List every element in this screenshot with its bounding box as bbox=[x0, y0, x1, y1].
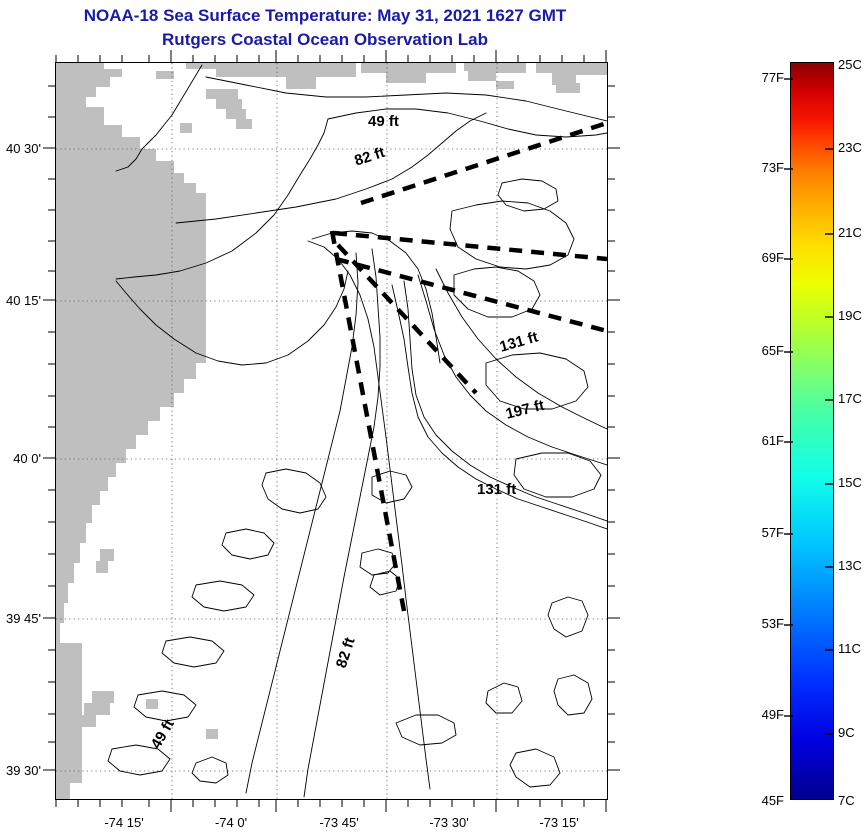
colorbar-f-label-5: 57F bbox=[740, 525, 784, 540]
colorbar-f-label-6: 53F bbox=[740, 616, 784, 631]
page-title: NOAA-18 Sea Surface Temperature: May 31,… bbox=[0, 4, 650, 52]
colorbar-c-label-8: 9C bbox=[838, 725, 855, 740]
colorbar-f-label-1: 73F bbox=[740, 160, 784, 175]
y-tick-label-0: 40 30' bbox=[0, 141, 41, 156]
y-tick-label-1: 40 15' bbox=[0, 293, 41, 308]
colorbar-f-label-2: 69F bbox=[740, 250, 784, 265]
x-tick-label-2: -73 45' bbox=[294, 815, 384, 830]
depth-label-131ft-lower: 131 ft bbox=[477, 481, 516, 498]
x-tick-label-3: -73 30' bbox=[404, 815, 494, 830]
colorbar-f-label-0: 77F bbox=[740, 70, 784, 85]
title-line-1: NOAA-18 Sea Surface Temperature: May 31,… bbox=[0, 4, 650, 28]
colorbar-c-label-0: 25C bbox=[838, 57, 862, 72]
colorbar-c-label-4: 17C bbox=[838, 391, 862, 406]
map-graphic bbox=[56, 63, 607, 799]
colorbar-c-label-2: 21C bbox=[838, 225, 862, 240]
colorbar-c-label-9: 7C bbox=[838, 793, 855, 808]
colorbar-f-label-7: 49F bbox=[740, 707, 784, 722]
colorbar-c-label-6: 13C bbox=[838, 558, 862, 573]
colorbar-gradient bbox=[790, 62, 834, 800]
title-line-2: Rutgers Coastal Ocean Observation Lab bbox=[0, 28, 650, 52]
colorbar-c-label-3: 19C bbox=[838, 308, 862, 323]
y-tick-label-4: 39 30' bbox=[0, 763, 41, 778]
y-tick-label-2: 40 0' bbox=[0, 451, 41, 466]
sst-map-plot[interactable] bbox=[55, 62, 608, 800]
colorbar-c-label-5: 15C bbox=[838, 475, 862, 490]
colorbar-f-label-3: 65F bbox=[740, 343, 784, 358]
x-tick-label-0: -74 15' bbox=[79, 815, 169, 830]
colorbar-f-label-8: 45F bbox=[740, 793, 784, 808]
colorbar-c-label-1: 23C bbox=[838, 140, 862, 155]
x-tick-label-4: -73 15' bbox=[514, 815, 604, 830]
x-tick-label-1: -74 0' bbox=[186, 815, 276, 830]
colorbar-f-label-4: 61F bbox=[740, 433, 784, 448]
depth-label-49ft-north: 49 ft bbox=[368, 113, 399, 130]
y-tick-label-3: 39 45' bbox=[0, 611, 41, 626]
colorbar-c-label-7: 11C bbox=[838, 641, 861, 656]
temperature-colorbar[interactable] bbox=[790, 62, 834, 800]
